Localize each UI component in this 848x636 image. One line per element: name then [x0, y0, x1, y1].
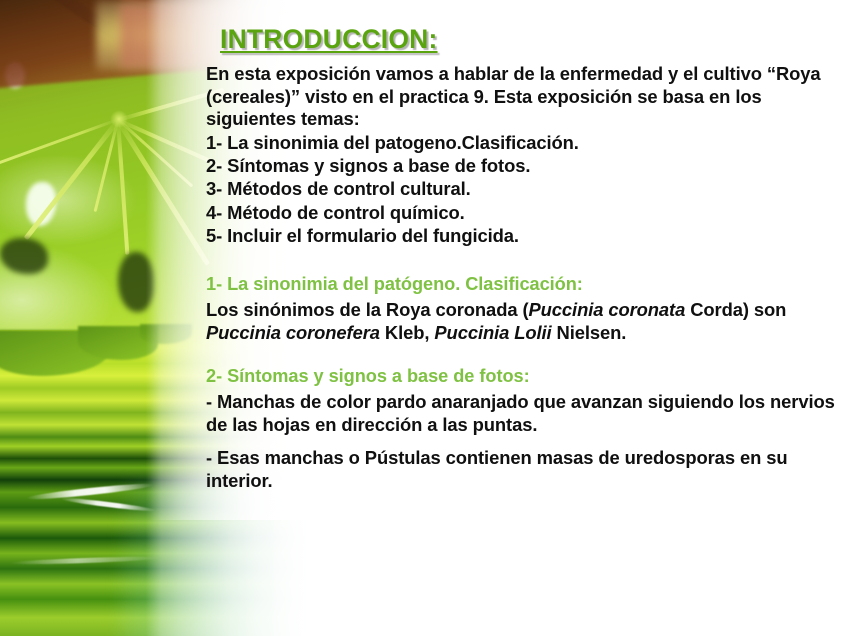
- topics-list: 1- La sinonimia del patogeno.Clasificaci…: [206, 131, 842, 247]
- species-name: Puccinia coronata: [529, 299, 686, 320]
- bullet-spacer: [206, 436, 842, 447]
- page-title: INTRODUCCION:: [220, 24, 438, 55]
- section-heading-synonymy: 1- La sinonimia del patógeno. Clasificac…: [206, 274, 842, 296]
- section-bullet-symptoms-2: - Esas manchas o Pústulas contienen masa…: [206, 447, 842, 492]
- list-item: 4- Método de control químico.: [206, 201, 842, 224]
- body-text: Kleb,: [380, 322, 434, 343]
- body-text: Los sinónimos de la Roya coronada (: [206, 299, 529, 320]
- slide-content: INTRODUCCION: En esta exposición vamos a…: [206, 24, 842, 493]
- intro-paragraph: En esta exposición vamos a hablar de la …: [206, 63, 842, 131]
- section-spacer: [206, 344, 842, 366]
- section-bullet-symptoms-1: - Manchas de color pardo anaranjado que …: [206, 391, 842, 436]
- section-spacer: [206, 247, 842, 274]
- list-item: 5- Incluir el formulario del fungicida.: [206, 224, 842, 247]
- section-body-synonymy: Los sinónimos de la Roya coronada (Pucci…: [206, 299, 842, 344]
- body-text: Corda) son: [685, 299, 786, 320]
- species-name: Puccinia Lolii: [434, 322, 551, 343]
- body-text: Nielsen.: [552, 322, 627, 343]
- list-item: 3- Métodos de control cultural.: [206, 177, 842, 200]
- list-item: 1- La sinonimia del patogeno.Clasificaci…: [206, 131, 842, 154]
- presentation-slide: INTRODUCCION: En esta exposición vamos a…: [0, 0, 848, 636]
- section-heading-symptoms: 2- Síntomas y signos a base de fotos:: [206, 366, 842, 388]
- species-name: Puccinia coronefera: [206, 322, 380, 343]
- list-item: 2- Síntomas y signos a base de fotos.: [206, 154, 842, 177]
